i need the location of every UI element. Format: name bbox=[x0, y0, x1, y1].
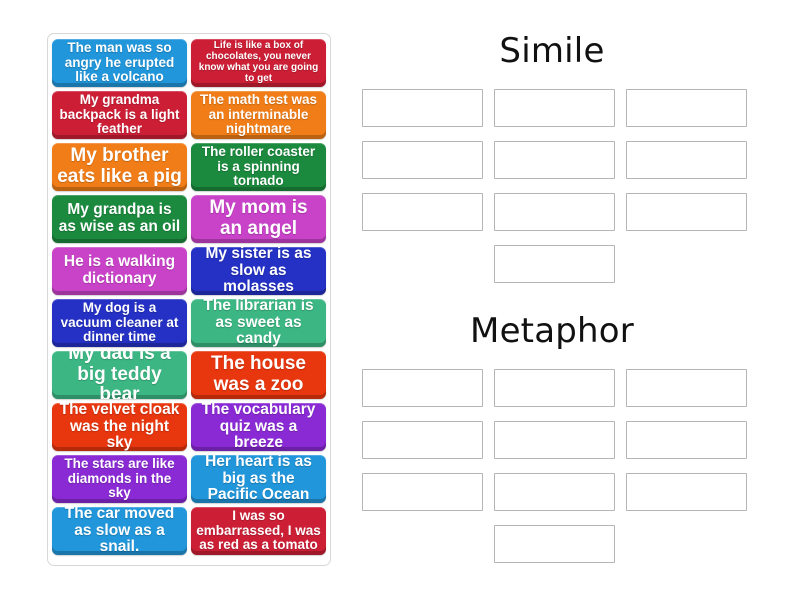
word-tile[interactable]: My dog is a vacuum cleaner at dinner tim… bbox=[52, 299, 187, 347]
drop-slot-simile[interactable] bbox=[494, 245, 615, 283]
drop-slot-metaphor[interactable] bbox=[494, 369, 615, 407]
word-tile[interactable]: Life is like a box of chocolates, you ne… bbox=[191, 39, 326, 87]
word-tile-label: I was so embarrassed, I was as red as a … bbox=[196, 509, 321, 553]
word-tile-label: Life is like a box of chocolates, you ne… bbox=[196, 41, 321, 84]
word-tile-label: The man was so angry he erupted like a v… bbox=[57, 41, 182, 85]
word-tile-label: The librarian is as sweet as candy bbox=[196, 299, 321, 347]
drop-slot-metaphor[interactable] bbox=[362, 421, 483, 459]
drop-slot-metaphor[interactable] bbox=[362, 369, 483, 407]
drop-slot-simile[interactable] bbox=[626, 141, 747, 179]
word-tile[interactable]: The house was a zoo bbox=[191, 351, 326, 399]
word-tile-label: Her heart is as big as the Pacific Ocean bbox=[196, 455, 321, 503]
drop-slot-metaphor[interactable] bbox=[626, 473, 747, 511]
word-tile-label: The house was a zoo bbox=[196, 354, 321, 395]
word-tile-label: The velvet cloak was the night sky bbox=[57, 403, 182, 451]
word-tile-label: My dad is a big teddy bear bbox=[57, 351, 182, 399]
drop-slot-metaphor[interactable] bbox=[362, 473, 483, 511]
word-tile[interactable]: The vocabulary quiz was a breeze bbox=[191, 403, 326, 451]
word-tile[interactable]: My mom is an angel bbox=[191, 195, 326, 243]
word-tile[interactable]: The stars are like diamonds in the sky bbox=[52, 455, 187, 503]
word-tile-label: The roller coaster is a spinning tornado bbox=[196, 145, 321, 189]
word-tile-label: He is a walking dictionary bbox=[57, 254, 182, 287]
word-tile[interactable]: The roller coaster is a spinning tornado bbox=[191, 143, 326, 191]
drop-slot-simile[interactable] bbox=[494, 89, 615, 127]
word-tile-label: My brother eats like a pig bbox=[57, 146, 182, 187]
word-tile[interactable]: The man was so angry he erupted like a v… bbox=[52, 39, 187, 87]
word-tile-label: My mom is an angel bbox=[196, 198, 321, 239]
word-tile-label: The car moved as slow as a snail. bbox=[57, 507, 182, 555]
word-tile-label: The stars are like diamonds in the sky bbox=[57, 457, 182, 501]
word-tile-label: The vocabulary quiz was a breeze bbox=[196, 403, 321, 451]
word-tile[interactable]: The librarian is as sweet as candy bbox=[191, 299, 326, 347]
drop-zone-grid-metaphor bbox=[362, 369, 747, 563]
word-tile[interactable]: The car moved as slow as a snail. bbox=[52, 507, 187, 555]
word-tile[interactable]: My grandpa is as wise as an oil bbox=[52, 195, 187, 243]
word-tile[interactable]: The velvet cloak was the night sky bbox=[52, 403, 187, 451]
drop-slot-simile[interactable] bbox=[362, 193, 483, 231]
drop-slot-simile[interactable] bbox=[626, 193, 747, 231]
word-tile-label: My grandpa is as wise as an oil bbox=[57, 202, 182, 235]
drop-slot-metaphor[interactable] bbox=[626, 369, 747, 407]
drop-slot-metaphor[interactable] bbox=[494, 421, 615, 459]
word-tile-tray: The man was so angry he erupted like a v… bbox=[47, 33, 331, 566]
word-tile[interactable]: My grandma backpack is a light feather bbox=[52, 91, 187, 139]
word-tile[interactable]: Her heart is as big as the Pacific Ocean bbox=[191, 455, 326, 503]
word-tile[interactable]: He is a walking dictionary bbox=[52, 247, 187, 295]
word-tile[interactable]: The math test was an interminable nightm… bbox=[191, 91, 326, 139]
word-tile-label: My grandma backpack is a light feather bbox=[57, 93, 182, 137]
drop-slot-metaphor[interactable] bbox=[626, 421, 747, 459]
drop-slot-simile[interactable] bbox=[494, 193, 615, 231]
word-tile-grid: The man was so angry he erupted like a v… bbox=[52, 39, 326, 555]
group-title-metaphor: Metaphor bbox=[342, 311, 762, 351]
group-title-simile: Simile bbox=[342, 31, 762, 71]
drop-slot-simile[interactable] bbox=[494, 141, 615, 179]
word-tile-label: My dog is a vacuum cleaner at dinner tim… bbox=[57, 301, 182, 345]
word-tile[interactable]: I was so embarrassed, I was as red as a … bbox=[191, 507, 326, 555]
drop-slot-metaphor[interactable] bbox=[494, 473, 615, 511]
word-tile-label: The math test was an interminable nightm… bbox=[196, 93, 321, 137]
drop-slot-simile[interactable] bbox=[626, 89, 747, 127]
drop-slot-simile[interactable] bbox=[362, 141, 483, 179]
drop-slot-metaphor[interactable] bbox=[494, 525, 615, 563]
word-tile[interactable]: My dad is a big teddy bear bbox=[52, 351, 187, 399]
word-tile-label: My sister is as slow as molasses bbox=[196, 247, 321, 295]
word-tile[interactable]: My brother eats like a pig bbox=[52, 143, 187, 191]
drop-zone-grid-simile bbox=[362, 89, 747, 283]
word-tile[interactable]: My sister is as slow as molasses bbox=[191, 247, 326, 295]
drop-slot-simile[interactable] bbox=[362, 89, 483, 127]
